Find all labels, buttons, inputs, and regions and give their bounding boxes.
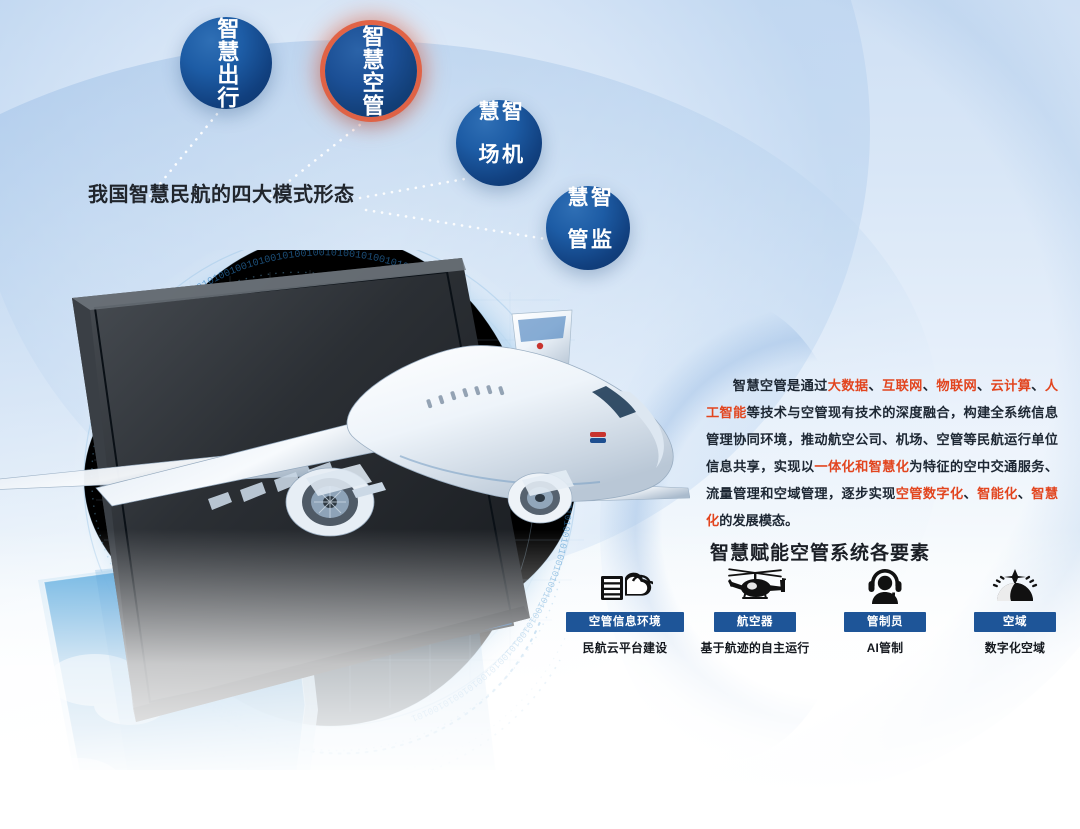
bubble-smart-airport-line2: 机场 xyxy=(475,143,522,186)
element-badge-atm-info-environment: 空管信息环境 xyxy=(566,612,684,632)
para-hl-cloud: 云计算 xyxy=(991,378,1032,393)
bubble-smart-travel-line1: 智慧 xyxy=(214,17,239,63)
para-sep-3: 、 xyxy=(977,378,991,393)
para-hl-internet: 互联网 xyxy=(882,378,923,393)
bubble-smart-regulation[interactable]: 智慧监管 xyxy=(546,186,630,270)
bubble-smart-atm-line2: 空管 xyxy=(359,71,384,117)
element-aircraft[interactable]: 航空器 基于航迹的自主运行 xyxy=(696,564,814,656)
para-sep-1: 、 xyxy=(868,378,882,393)
para-plain-1: 智慧空管是通过 xyxy=(732,378,827,393)
elements-section-title: 智慧赋能空管系统各要素 xyxy=(710,538,930,565)
para-sep-6: 、 xyxy=(1018,486,1032,501)
element-badge-airspace: 空域 xyxy=(974,612,1056,632)
para-hl-integrated: 一体化和智慧化 xyxy=(814,459,909,474)
element-caption-controller: AI管制 xyxy=(867,639,904,656)
element-airspace[interactable]: 空域 数字化空域 xyxy=(956,564,1074,656)
element-controller[interactable]: 管制员 AI管制 xyxy=(826,564,944,656)
hero-illustration: 1001010100100101001010010010100101001001… xyxy=(0,250,690,770)
mode-bubble-group: 智慧出行 智慧空管 智慧机场 智慧监管 xyxy=(0,0,680,290)
bubble-smart-airport-line1: 智慧 xyxy=(475,100,522,143)
bubble-smart-atm[interactable]: 智慧空管 xyxy=(325,25,417,117)
bubble-smart-regulation-line2: 监管 xyxy=(564,228,611,270)
controller-headset-icon xyxy=(863,564,907,608)
cloud-server-icon xyxy=(597,564,653,608)
hero-artwork: 1001010100100101001010010010100101001001… xyxy=(0,250,690,770)
elements-row: 空管信息环境 民航云平台建设 xyxy=(566,572,1074,656)
element-badge-aircraft: 航空器 xyxy=(714,612,796,632)
bubble-smart-atm-line1: 智慧 xyxy=(359,25,384,71)
helicopter-icon xyxy=(724,564,786,608)
element-atm-info-environment[interactable]: 空管信息环境 民航云平台建设 xyxy=(566,564,684,656)
para-sep-2: 、 xyxy=(923,378,937,393)
four-modes-label: 我国智慧民航的四大模式形态 xyxy=(88,178,355,207)
description-paragraph: 智慧空管是通过大数据、互联网、物联网、云计算、人工智能等技术与空管现有技术的深度… xyxy=(706,372,1058,534)
bubble-smart-travel[interactable]: 智慧出行 xyxy=(180,17,272,109)
poster-canvas: 1001010100100101001010010010100101001001… xyxy=(0,0,1080,829)
para-sep-4: 、 xyxy=(1031,378,1045,393)
para-plain-4: 的发展模态。 xyxy=(719,513,798,528)
para-hl-digitalization: 空管数字化 xyxy=(896,486,964,501)
para-sep-5: 、 xyxy=(964,486,978,501)
element-caption-atm-info-environment: 民航云平台建设 xyxy=(583,639,668,656)
para-hl-bigdata: 大数据 xyxy=(828,378,869,393)
para-hl-intelligent: 智能化 xyxy=(977,486,1018,501)
element-caption-aircraft: 基于航迹的自主运行 xyxy=(701,639,810,656)
element-caption-airspace: 数字化空域 xyxy=(985,639,1046,656)
bubble-smart-regulation-line1: 智慧 xyxy=(564,186,611,228)
bubble-smart-airport[interactable]: 智慧机场 xyxy=(456,100,542,186)
element-badge-controller: 管制员 xyxy=(844,612,926,632)
para-hl-iot: 物联网 xyxy=(936,378,977,393)
bubble-smart-travel-line2: 出行 xyxy=(214,63,239,109)
airspace-globe-plane-icon xyxy=(988,564,1042,608)
